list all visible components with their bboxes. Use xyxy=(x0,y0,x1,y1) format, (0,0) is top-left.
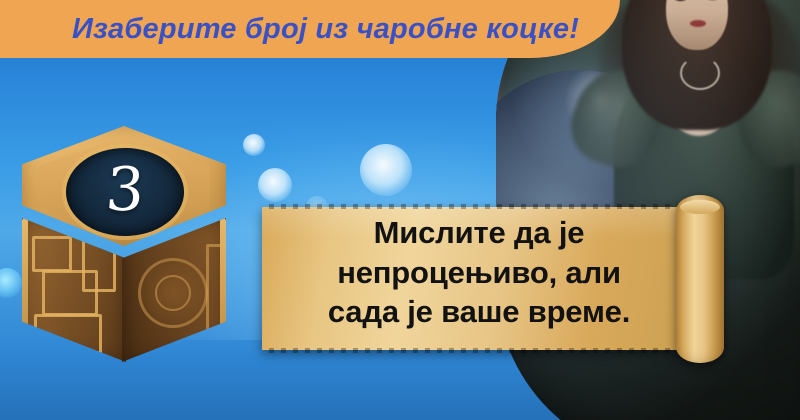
cube-edge-rim xyxy=(22,218,28,362)
cube-glyph xyxy=(32,236,72,272)
cube-number-plate: 3 xyxy=(66,148,184,236)
orb-bright-upper-right xyxy=(243,134,265,156)
promo-banner-image: 3 Мислите да је непроцењиво, али сада је… xyxy=(0,0,800,420)
header-title: Изаберите број из чаробне коцке! xyxy=(72,5,612,53)
cube-seal-icon xyxy=(138,258,208,328)
magic-cube[interactable]: 3 xyxy=(8,126,240,362)
orb-small-left xyxy=(258,168,292,202)
scroll-message: Мислите да је непроцењиво, али сада је в… xyxy=(274,213,684,332)
cube-edge-rim xyxy=(220,218,226,362)
scroll-line-1: Мислите да је xyxy=(274,213,684,253)
necklace xyxy=(680,56,720,90)
scroll-line-2: непроцењиво, али xyxy=(274,253,684,293)
parchment-scroll: Мислите да је непроцењиво, али сада је в… xyxy=(262,207,734,350)
orb-large-center xyxy=(360,144,412,196)
cube-glyph xyxy=(34,314,102,354)
lips xyxy=(690,20,706,27)
cube-glyph xyxy=(82,232,116,292)
scroll-line-3: сада је ваше време. xyxy=(274,292,684,332)
cube-number-value: 3 xyxy=(104,160,146,220)
